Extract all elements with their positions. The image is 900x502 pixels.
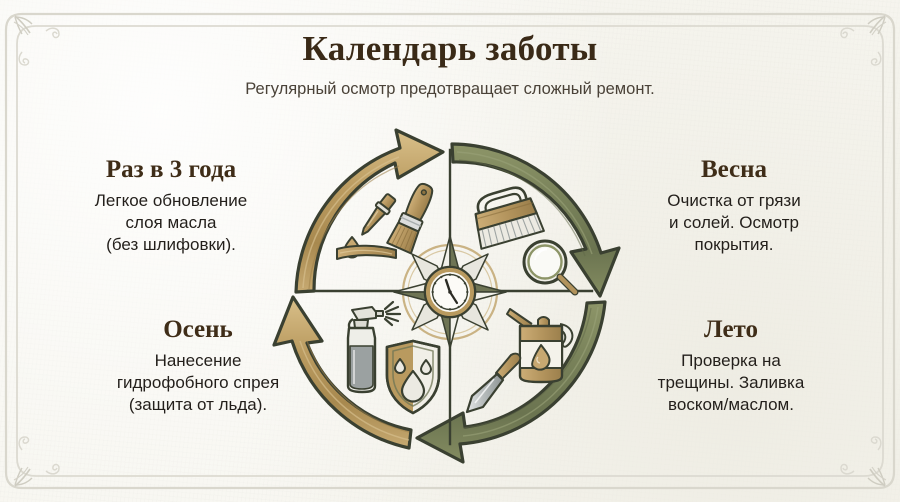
block-body: Проверка на трещины. Заливка воском/масл… [596,350,866,416]
corner-ornament-bottom-left [6,422,74,488]
text-block-spring: Весна Очистка от грязи и солей. Осмотр п… [600,156,868,256]
block-heading: Осень [64,316,332,344]
page-title: Календарь заботы [0,30,900,69]
block-heading: Раз в 3 года [36,156,306,184]
block-body: Легкое обновление слоя масла (без шлифов… [36,190,306,256]
page-subtitle: Регулярный осмотр предотвращает сложный … [0,80,900,100]
block-heading: Лето [596,316,866,344]
infographic-poster: Календарь заботы Регулярный осмотр предо… [0,0,900,502]
text-block-once-every-3-years: Раз в 3 года Легкое обновление слоя масл… [36,156,306,256]
block-heading: Весна [600,156,868,184]
block-body: Очистка от грязи и солей. Осмотр покрыти… [600,190,868,256]
text-block-autumn: Осень Нанесение гидрофобного спрея (защи… [64,316,332,416]
corner-ornament-bottom-right [826,422,894,488]
block-body: Нанесение гидрофобного спрея (защита от … [64,350,332,416]
poster-header: Календарь заботы Регулярный осмотр предо… [0,30,900,99]
text-block-summer: Лето Проверка на трещины. Заливка воском… [596,316,866,416]
